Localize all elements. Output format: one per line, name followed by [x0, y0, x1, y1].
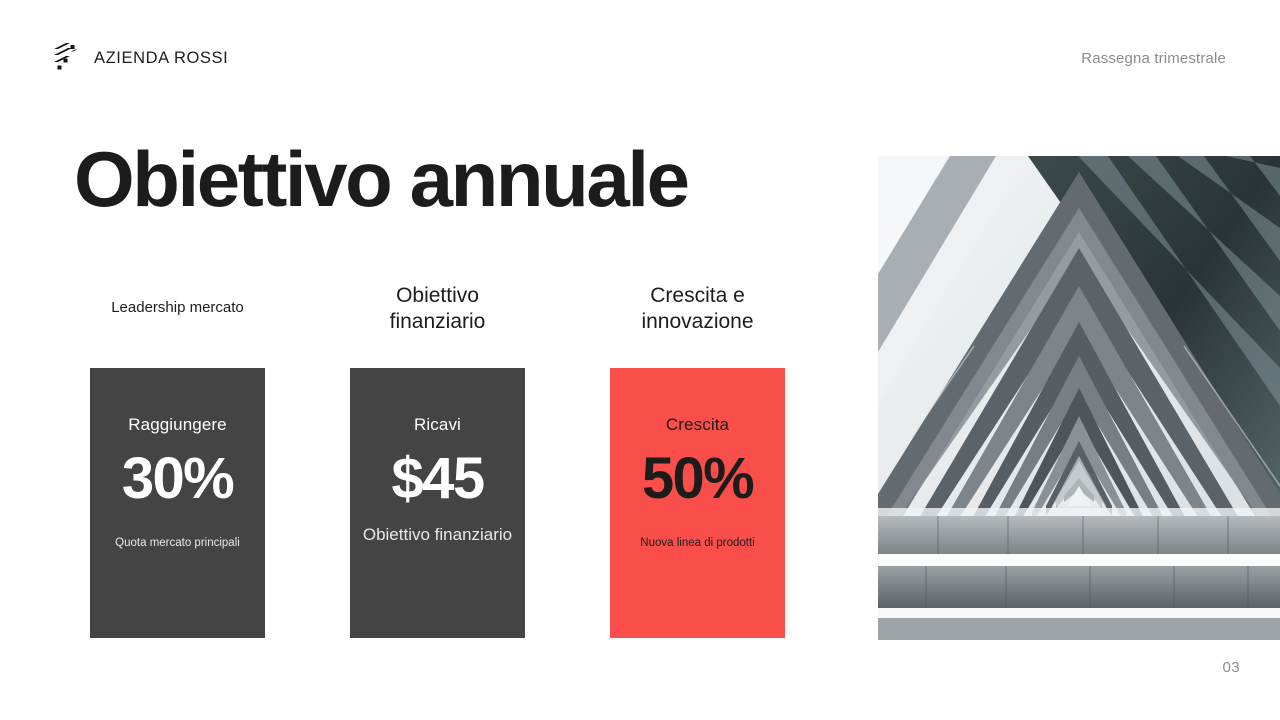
- card-caption: Obiettivo finanziario: [363, 524, 512, 546]
- metric-card-growth[interactable]: Crescita 50% Nuova linea di prodotti: [610, 368, 785, 638]
- card-value: 50%: [642, 447, 753, 511]
- card-label: Raggiungere: [128, 414, 226, 436]
- header-subtitle: Rassegna trimestrale: [1081, 50, 1226, 67]
- slashes-logo-icon: [52, 43, 80, 73]
- metric-card-leadership[interactable]: Raggiungere 30% Quota mercato principali: [90, 368, 265, 638]
- card-caption: Nuova linea di prodotti: [640, 535, 754, 551]
- metric-column-3: Crescita e innovazione Crescita 50% Nuov…: [610, 283, 785, 638]
- metric-column-2: Obiettivo finanziario Ricavi $45 Obietti…: [350, 283, 525, 638]
- metric-column-1: Leadership mercato Raggiungere 30% Quota…: [90, 283, 265, 638]
- column-heading: Crescita e innovazione: [610, 283, 785, 345]
- metrics-row: Leadership mercato Raggiungere 30% Quota…: [90, 283, 790, 638]
- card-caption: Quota mercato principali: [115, 535, 240, 551]
- page-number: 03: [1223, 659, 1241, 676]
- brand-name: AZIENDA ROSSI: [94, 49, 228, 68]
- brand-lockup: AZIENDA ROSSI: [52, 43, 228, 73]
- card-label: Ricavi: [414, 414, 461, 436]
- card-value: $45: [392, 447, 484, 511]
- column-heading: Leadership mercato: [90, 283, 265, 345]
- column-heading: Obiettivo finanziario: [350, 283, 525, 345]
- page-title: Obiettivo annuale: [74, 133, 688, 225]
- photo-artwork: [878, 156, 1280, 640]
- card-label: Crescita: [666, 414, 729, 436]
- card-value: 30%: [122, 447, 233, 511]
- metric-card-financial[interactable]: Ricavi $45 Obiettivo finanziario: [350, 368, 525, 638]
- slide-root: AZIENDA ROSSI Rassegna trimestrale Obiet…: [0, 0, 1280, 720]
- architectural-photo: [878, 156, 1280, 640]
